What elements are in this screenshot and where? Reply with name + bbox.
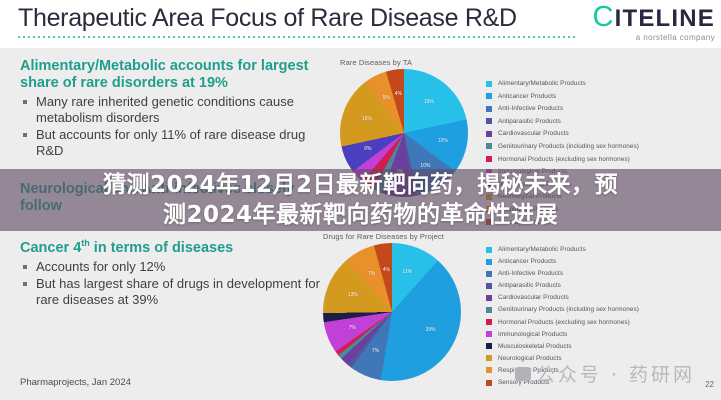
- legend-label: Genitourinary Products (including sex ho…: [498, 143, 639, 150]
- pie-slice-label: 5%: [383, 95, 390, 101]
- legend-item[interactable]: Genitourinary Products (including sex ho…: [486, 306, 639, 313]
- legend-swatch-icon: [486, 331, 492, 337]
- block-heading: Cancer 4th in terms of diseases: [20, 235, 330, 257]
- pie-slice-label: 7%: [372, 348, 379, 354]
- citeline-logo: CITELINE a norstella company: [592, 4, 715, 42]
- pie-slice-label: 19%: [424, 99, 434, 105]
- legend-item[interactable]: Cardiovascular Products: [486, 294, 639, 301]
- legend-swatch-icon: [486, 380, 492, 386]
- legend-swatch-icon: [486, 81, 492, 87]
- legend-item[interactable]: Anticancer Products: [486, 258, 639, 265]
- legend-label: Antiparasitic Products: [498, 282, 561, 289]
- legend-swatch-icon: [486, 131, 492, 137]
- legend-item[interactable]: Genitourinary Products (including sex ho…: [486, 143, 639, 150]
- legend-item[interactable]: Alimentary/Metabolic Products: [486, 80, 639, 87]
- legend-label: Anti-Infective Products: [498, 270, 563, 277]
- block-bullets: Accounts for only 12% But has largest sh…: [20, 259, 330, 308]
- pie-slice-label: 4%: [395, 91, 402, 97]
- legend-label: Anticancer Products: [498, 258, 556, 265]
- logo-tagline: a norstella company: [592, 33, 715, 42]
- heading-ordinal: th: [81, 238, 90, 248]
- legend-label: Cardiovascular Products: [498, 294, 569, 301]
- pie-slice-label: 6%: [364, 146, 371, 152]
- text-block-cancer: Cancer 4th in terms of diseases Accounts…: [20, 235, 330, 308]
- legend-swatch-icon: [486, 319, 492, 325]
- legend-label: Hormonal Products (excluding sex hormone…: [498, 156, 630, 163]
- legend-label: Antiparasitic Products: [498, 118, 561, 125]
- legend-swatch-icon: [486, 307, 492, 313]
- legend-swatch-icon: [486, 367, 492, 373]
- chart-title: Drugs for Rare Diseases by Project: [323, 232, 461, 241]
- legend-item[interactable]: Anticancer Products: [486, 93, 639, 100]
- legend-swatch-icon: [486, 271, 492, 277]
- legend-swatch-icon: [486, 143, 492, 149]
- source-note: Pharmaprojects, Jan 2024: [20, 377, 131, 388]
- logo-wordmark: CITELINE: [592, 4, 715, 32]
- list-item: Many rare inherited genetic conditions c…: [20, 94, 330, 126]
- legend-label: Cardiovascular Products: [498, 130, 569, 137]
- chart-drugs-by-project: Drugs for Rare Diseases by Project 11%39…: [323, 232, 461, 381]
- legend-swatch-icon: [486, 355, 492, 361]
- legend-label: Musculoskeletal Products: [498, 343, 572, 350]
- legend-item[interactable]: Musculoskeletal Products: [486, 343, 639, 350]
- legend-swatch-icon: [486, 283, 492, 289]
- pie-slice-label: 11%: [402, 269, 412, 275]
- legend-swatch-icon: [486, 259, 492, 265]
- pie-chart-project: 11%39%7%7%13%7%4%: [323, 243, 461, 381]
- header-divider: [18, 36, 578, 38]
- slide-canvas: Therapeutic Area Focus of Rare Disease R…: [0, 0, 721, 400]
- overlay-line-2: 测2024年最新靶向药物的革命性进展: [163, 200, 558, 230]
- text-block-alimentary: Alimentary/Metabolic accounts for larges…: [20, 58, 330, 159]
- pie-slice-label: 7%: [349, 325, 356, 331]
- legend-label: Alimentary/Metabolic Products: [498, 80, 586, 87]
- legend-label: Anticancer Products: [498, 93, 556, 100]
- legend-item[interactable]: Hormonal Products (excluding sex hormone…: [486, 319, 639, 326]
- page-title: Therapeutic Area Focus of Rare Disease R…: [18, 3, 517, 33]
- block-heading: Alimentary/Metabolic accounts for larges…: [20, 58, 330, 92]
- watermark-text: 公众号 · 药研网: [536, 360, 695, 387]
- legend-item[interactable]: Immunological Products: [486, 331, 639, 338]
- page-number: 22: [705, 380, 714, 389]
- pie-slice-label: 13%: [348, 292, 358, 298]
- legend-label: Alimentary/Metabolic Products: [498, 246, 586, 253]
- legend-swatch-icon: [486, 343, 492, 349]
- legend-item[interactable]: Anti-Infective Products: [486, 270, 639, 277]
- chinese-title-overlay: 猜测2024年12月2日最新靶向药，揭秘未来，预 测2024年最新靶向药物的革命…: [0, 169, 721, 231]
- legend-swatch-icon: [486, 295, 492, 301]
- legend-swatch-icon: [486, 93, 492, 99]
- legend-item[interactable]: Antiparasitic Products: [486, 118, 639, 125]
- block-bullets: Many rare inherited genetic conditions c…: [20, 94, 330, 159]
- watermark: 公众号 · 药研网: [515, 360, 695, 387]
- list-item: Accounts for only 12%: [20, 259, 330, 275]
- pie-slice-label: 39%: [426, 327, 436, 333]
- legend-swatch-icon: [486, 247, 492, 253]
- legend-item[interactable]: Antiparasitic Products: [486, 282, 639, 289]
- list-item: But accounts for only 11% of rare diseas…: [20, 127, 330, 159]
- legend-item[interactable]: Cardiovascular Products: [486, 130, 639, 137]
- pie-slice-label: 4%: [383, 267, 390, 273]
- list-item: But has largest share of drugs in develo…: [20, 276, 330, 308]
- heading-pre: Cancer 4: [20, 240, 81, 256]
- legend-item[interactable]: Anti-Infective Products: [486, 105, 639, 112]
- pie-slice-label: 7%: [368, 271, 375, 277]
- slide-header: Therapeutic Area Focus of Rare Disease R…: [0, 0, 721, 48]
- logo-c-glyph: C: [592, 1, 614, 33]
- legend-swatch-icon: [486, 156, 492, 162]
- legend-label: Genitourinary Products (including sex ho…: [498, 306, 639, 313]
- pie-slice-label: 12%: [438, 138, 448, 144]
- legend-item[interactable]: Hormonal Products (excluding sex hormone…: [486, 156, 639, 163]
- heading-post: in terms of diseases: [90, 240, 233, 256]
- legend-label: Anti-Infective Products: [498, 105, 563, 112]
- legend-swatch-icon: [486, 118, 492, 124]
- chart-title: Rare Diseases by TA: [340, 58, 468, 67]
- legend-label: Immunological Products: [498, 331, 567, 338]
- legend-swatch-icon: [486, 106, 492, 112]
- overlay-line-1: 猜测2024年12月2日最新靶向药，揭秘未来，预: [103, 170, 618, 200]
- watermark-badge-icon: [515, 367, 531, 381]
- legend-label: Hormonal Products (excluding sex hormone…: [498, 319, 630, 326]
- legend-item[interactable]: Alimentary/Metabolic Products: [486, 246, 639, 253]
- logo-text: ITELINE: [615, 5, 715, 32]
- pie-slice-label: 16%: [362, 116, 372, 122]
